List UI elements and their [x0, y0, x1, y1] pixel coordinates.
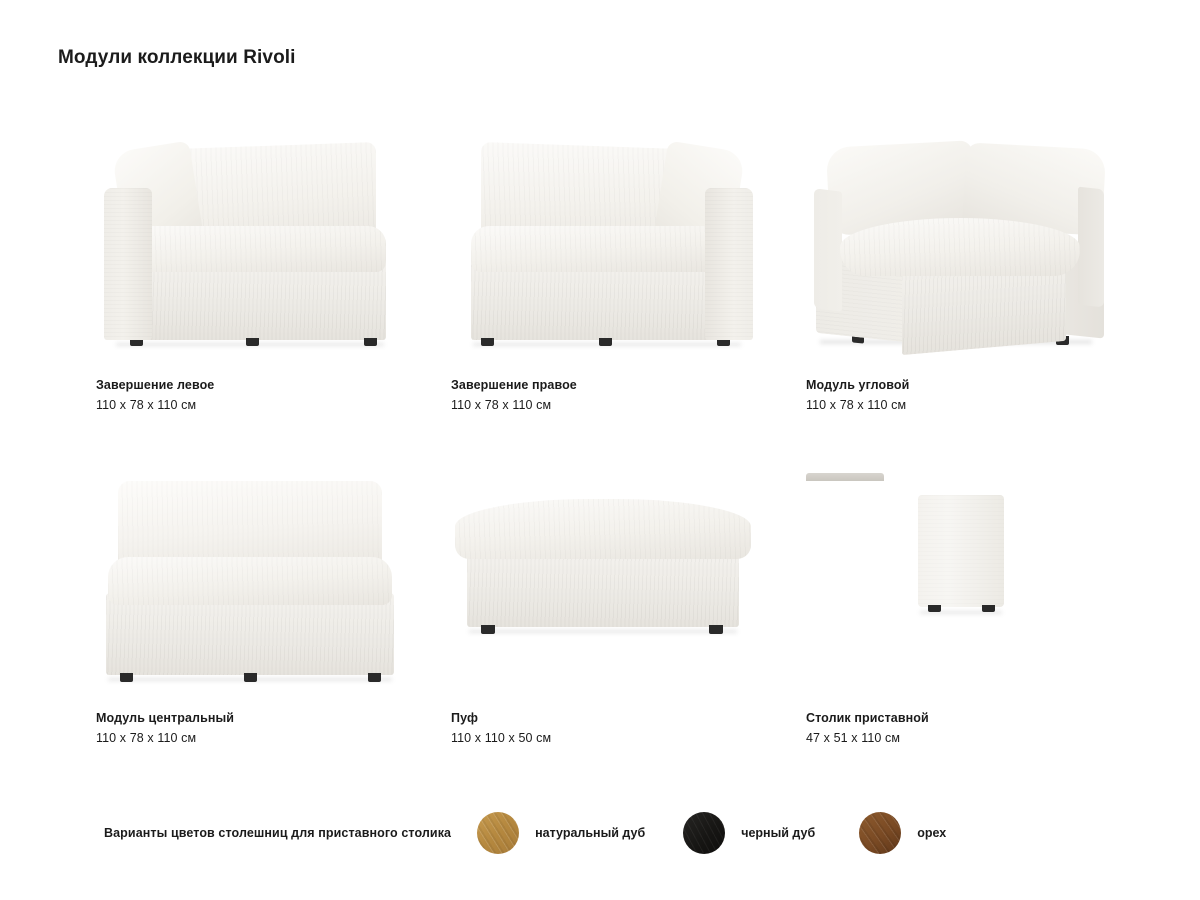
module-dimensions: 110 x 110 x 50 см	[451, 731, 771, 745]
sofa-module-center-image	[96, 473, 406, 688]
foot	[368, 673, 381, 682]
foot	[246, 338, 259, 346]
foot	[120, 673, 133, 682]
foot	[481, 625, 495, 634]
module-name: Модуль центральный	[96, 711, 416, 725]
foot	[481, 338, 494, 346]
swatch-natural-oak-icon[interactable]	[477, 812, 519, 854]
legend-label: Варианты цветов столешниц для приставног…	[104, 826, 451, 840]
module-card-right-end[interactable]: Завершение правое 110 x 78 x 110 см	[413, 140, 768, 473]
floor-shadow	[469, 630, 737, 633]
module-dimensions: 47 x 51 x 110 см	[806, 731, 1126, 745]
pouf-base	[467, 551, 739, 627]
module-row-1: Завершение левое 110 x 78 x 110 см Завер…	[0, 140, 1200, 473]
foot	[709, 625, 723, 634]
module-card-corner[interactable]: Модуль угловой 110 x 78 x 110 см	[768, 140, 1123, 473]
armrest-right	[705, 188, 753, 340]
module-caption: Пуф 110 x 110 x 50 см	[451, 711, 771, 745]
color-option-natural-oak[interactable]: натуральный дуб	[477, 812, 645, 854]
foot	[982, 605, 995, 612]
module-dimensions: 110 x 78 x 110 см	[96, 398, 416, 412]
sofa-base	[114, 260, 386, 340]
armrest-left	[814, 188, 842, 311]
module-name: Столик приставной	[806, 711, 1126, 725]
side-table-body	[918, 495, 1004, 607]
module-card-center[interactable]: Модуль центральный 110 x 78 x 110 см	[58, 473, 413, 806]
swatch-walnut-icon[interactable]	[859, 812, 901, 854]
foot	[364, 338, 377, 346]
color-option-walnut[interactable]: орех	[859, 812, 946, 854]
pouf-top-cushion	[455, 499, 751, 559]
swatch-label: черный дуб	[741, 826, 815, 840]
module-name: Пуф	[451, 711, 771, 725]
page-title: Модули коллекции Rivoli	[58, 47, 296, 69]
sofa-module-left-end-image	[96, 140, 406, 355]
module-caption: Завершение правое 110 x 78 x 110 см	[451, 378, 771, 412]
module-caption: Столик приставной 47 x 51 x 110 см	[806, 711, 1126, 745]
module-name: Завершение левое	[96, 378, 416, 392]
module-card-pouf[interactable]: Пуф 110 x 110 x 50 см	[413, 473, 768, 806]
module-grid: Завершение левое 110 x 78 x 110 см Завер…	[0, 140, 1200, 806]
module-name: Модуль угловой	[806, 378, 1126, 392]
swatch-label: натуральный дуб	[535, 826, 645, 840]
color-option-black-oak[interactable]: черный дуб	[683, 812, 815, 854]
module-card-left-end[interactable]: Завершение левое 110 x 78 x 110 см	[58, 140, 413, 473]
sofa-base	[471, 260, 743, 340]
seat-cushion	[471, 226, 721, 272]
swatch-label: орех	[917, 826, 946, 840]
sofa-module-right-end-image	[451, 140, 761, 355]
module-card-side-table[interactable]: Столик приставной 47 x 51 x 110 см	[768, 473, 1123, 806]
side-table-image	[806, 473, 1116, 688]
tabletop-color-legend: Варианты цветов столешниц для приставног…	[0, 812, 1200, 854]
side-table-top	[806, 473, 884, 481]
module-dimensions: 110 x 78 x 110 см	[96, 731, 416, 745]
module-caption: Завершение левое 110 x 78 x 110 см	[96, 378, 416, 412]
foot	[244, 673, 257, 682]
seat-cushion	[840, 218, 1080, 276]
sofa-module-corner-image	[806, 140, 1116, 355]
sofa-base	[106, 593, 394, 675]
module-caption: Модуль центральный 110 x 78 x 110 см	[96, 711, 416, 745]
swatch-black-oak-icon[interactable]	[683, 812, 725, 854]
foot	[599, 338, 612, 346]
ottoman-pouf-image	[451, 473, 761, 688]
seat-cushion	[136, 226, 386, 272]
armrest-left	[104, 188, 152, 340]
armrest-right	[1078, 187, 1104, 308]
module-row-2: Модуль центральный 110 x 78 x 110 см Пуф…	[0, 473, 1200, 806]
module-dimensions: 110 x 78 x 110 см	[806, 398, 1126, 412]
seat-cushion	[108, 557, 392, 605]
foot	[928, 605, 941, 612]
module-name: Завершение правое	[451, 378, 771, 392]
back-cushion	[118, 481, 382, 569]
module-caption: Модуль угловой 110 x 78 x 110 см	[806, 378, 1126, 412]
module-dimensions: 110 x 78 x 110 см	[451, 398, 771, 412]
